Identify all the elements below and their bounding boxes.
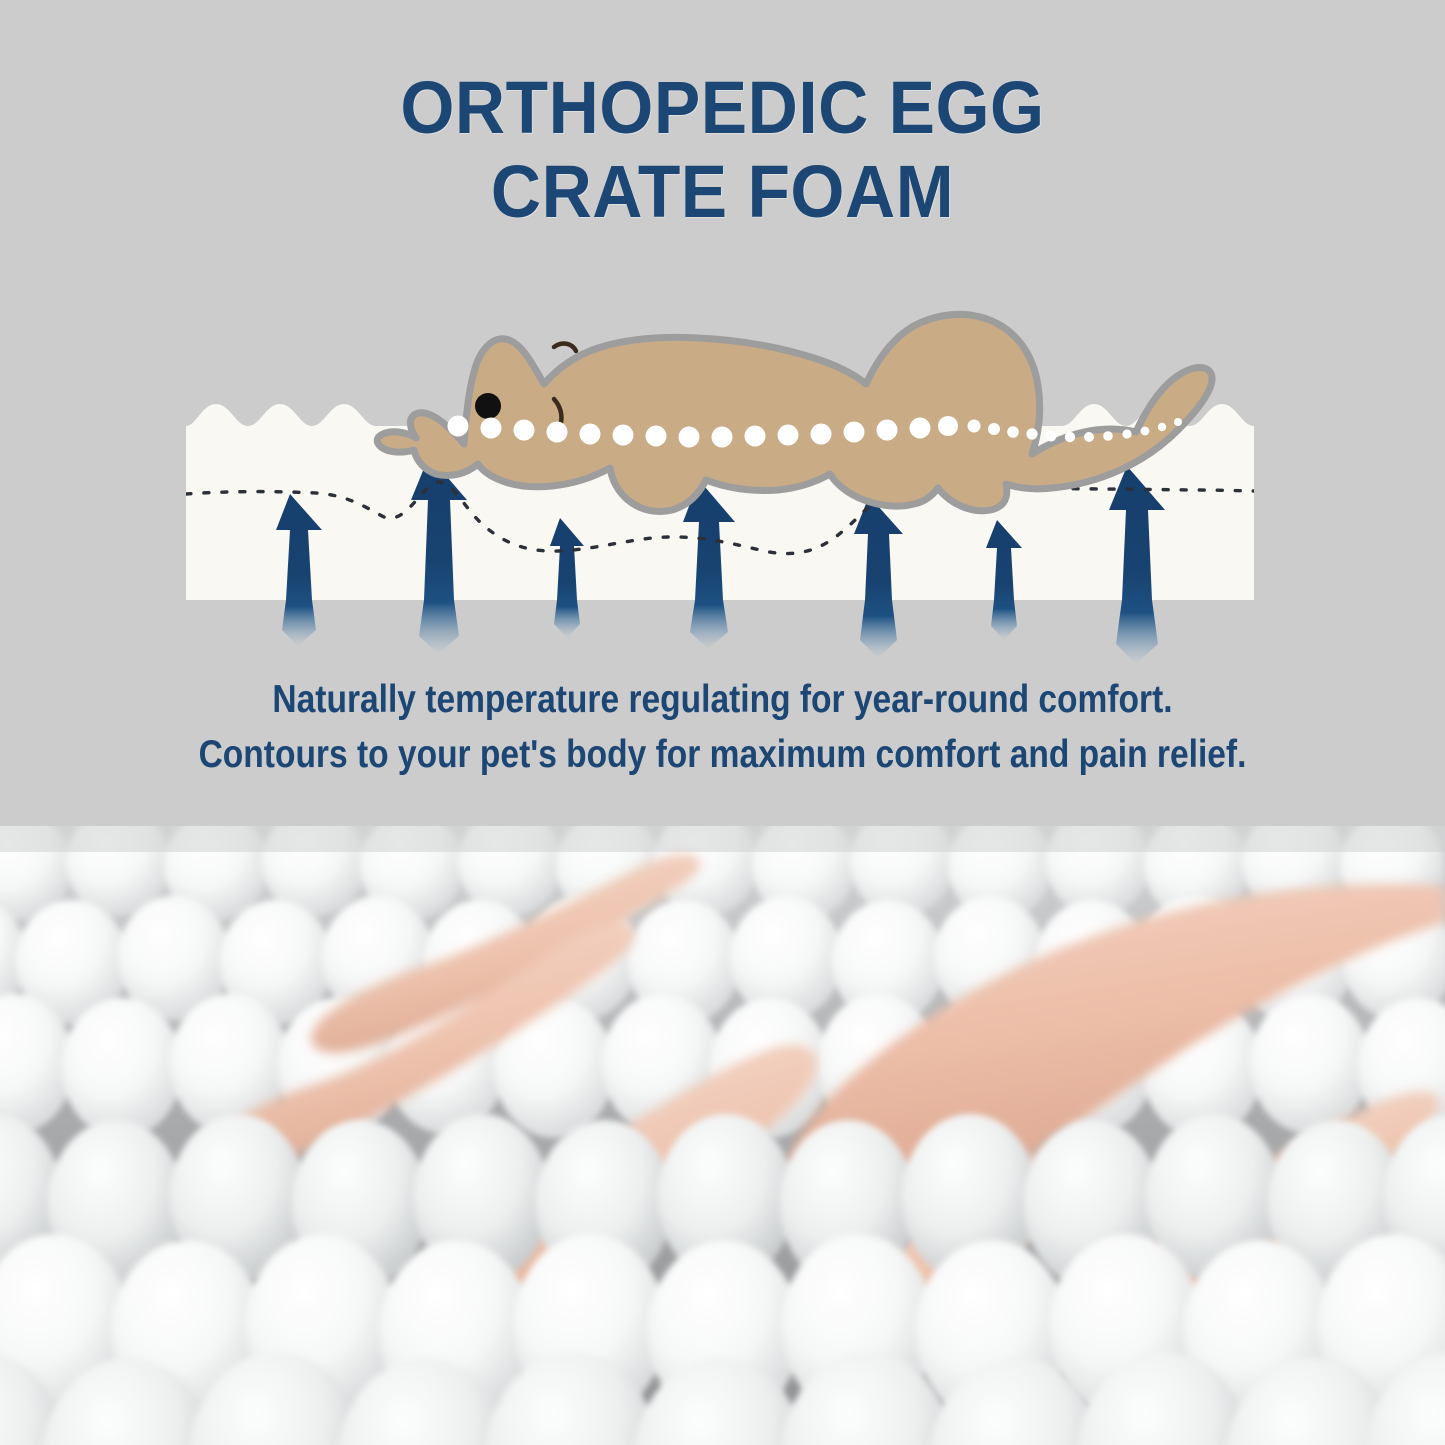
dog-eye-closed [554, 344, 576, 351]
infographic-top-panel: ORTHOPEDIC EGG CRATE FOAM [0, 0, 1445, 826]
headline-line-1: ORTHOPEDIC EGG [43, 66, 1401, 150]
feature-caption: Naturally temperature regulating for yea… [101, 672, 1344, 782]
foam-peaks-front [0, 1114, 1445, 1445]
caption-line-2: Contours to your pet's body for maximum … [101, 727, 1344, 782]
page-title: ORTHOPEDIC EGG CRATE FOAM [43, 66, 1401, 234]
foam-support-diagram [186, 298, 1254, 650]
caption-line-1: Naturally temperature regulating for yea… [101, 672, 1344, 727]
foam-texture-photo [0, 826, 1445, 1445]
product-infographic: ORTHOPEDIC EGG CRATE FOAM [0, 0, 1445, 1445]
dog-nose [475, 393, 501, 419]
photo-top-blend [0, 826, 1445, 852]
headline-line-2: CRATE FOAM [43, 150, 1401, 234]
